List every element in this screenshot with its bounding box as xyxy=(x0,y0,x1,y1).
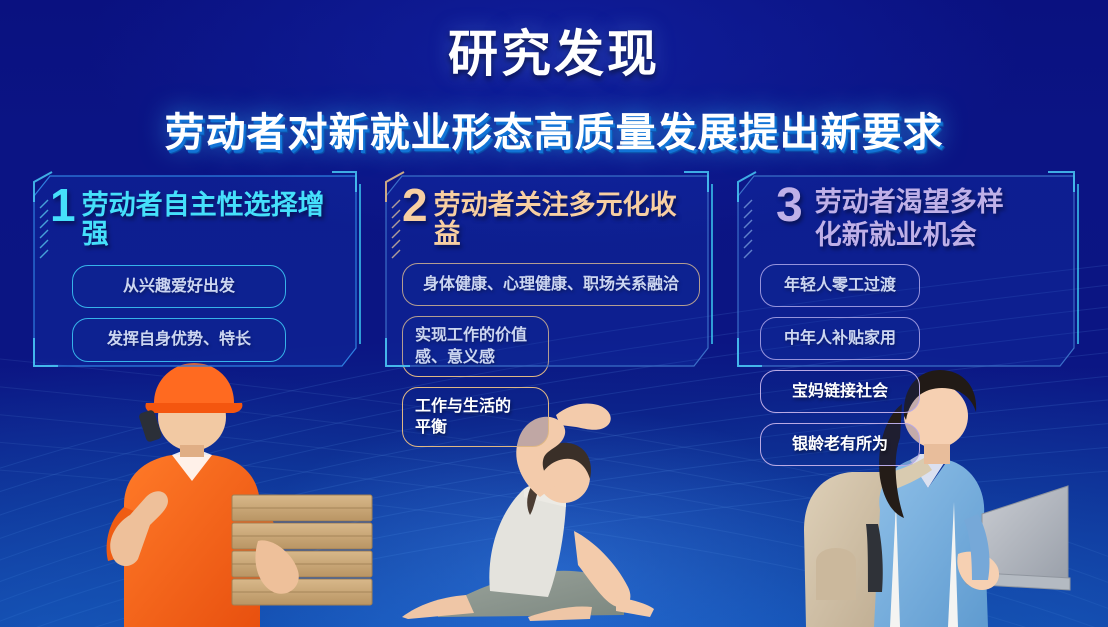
card-1-heading-row: 1 劳动者自主性选择增强 xyxy=(50,184,348,249)
card-1-pill-list: 从兴趣爱好出发 发挥自身优势、特长 xyxy=(50,265,348,361)
card-3-pill-4[interactable]: 银龄老有所为 xyxy=(760,423,920,466)
card-2-number: 2 xyxy=(402,184,428,226)
card-3-heading-row: 3 劳动者渴望多样 化新就业机会 xyxy=(754,184,1066,252)
card-3-heading: 劳动者渴望多样 化新就业机会 xyxy=(815,184,1004,252)
infographic-stage: 研究发现 劳动者对新就业形态高质量发展提出新要求 xyxy=(0,0,1108,627)
card-1-pill-1[interactable]: 从兴趣爱好出发 xyxy=(72,265,286,308)
card-2-pill-list: 身体健康、心理健康、职场关系融洽 实现工作的价值 感、意义感 工作与生活的 平衡 xyxy=(402,263,700,447)
card-3-pill-2[interactable]: 中年人补贴家用 xyxy=(760,317,920,360)
card-1-heading: 劳动者自主性选择增强 xyxy=(82,184,348,249)
finding-card-3[interactable]: 3 劳动者渴望多样 化新就业机会 年轻人零工过渡 中年人补贴家用 宝妈链接社会 … xyxy=(730,168,1082,373)
card-2-heading-row: 2 劳动者关注多元化收益 xyxy=(402,184,700,249)
page-subtitle: 劳动者对新就业形态高质量发展提出新要求 xyxy=(0,100,1108,158)
page-title: 研究发现 xyxy=(0,14,1108,86)
finding-card-2[interactable]: 2 劳动者关注多元化收益 身体健康、心理健康、职场关系融洽 实现工作的价值 感、… xyxy=(378,168,716,373)
card-3-pill-3[interactable]: 宝妈链接社会 xyxy=(760,370,920,413)
card-3-pill-1[interactable]: 年轻人零工过渡 xyxy=(760,264,920,307)
card-2-pill-3[interactable]: 工作与生活的 平衡 xyxy=(402,387,549,447)
card-1-pill-2[interactable]: 发挥自身优势、特长 xyxy=(72,318,286,361)
card-3-pill-list: 年轻人零工过渡 中年人补贴家用 宝妈链接社会 银龄老有所为 xyxy=(754,264,1066,466)
card-1-number: 1 xyxy=(50,184,76,226)
card-2-pill-2[interactable]: 实现工作的价值 感、意义感 xyxy=(402,316,549,376)
findings-card-row: 1 劳动者自主性选择增强 从兴趣爱好出发 发挥自身优势、特长 xyxy=(0,168,1108,373)
card-2-heading: 劳动者关注多元化收益 xyxy=(434,184,700,249)
delivery-courier-photo xyxy=(46,355,376,627)
card-2-pill-1[interactable]: 身体健康、心理健康、职场关系融洽 xyxy=(402,263,700,306)
finding-card-1[interactable]: 1 劳动者自主性选择增强 从兴趣爱好出发 发挥自身优势、特长 xyxy=(26,168,364,373)
card-3-number: 3 xyxy=(776,184,803,228)
header-block: 研究发现 劳动者对新就业形态高质量发展提出新要求 xyxy=(0,0,1108,158)
